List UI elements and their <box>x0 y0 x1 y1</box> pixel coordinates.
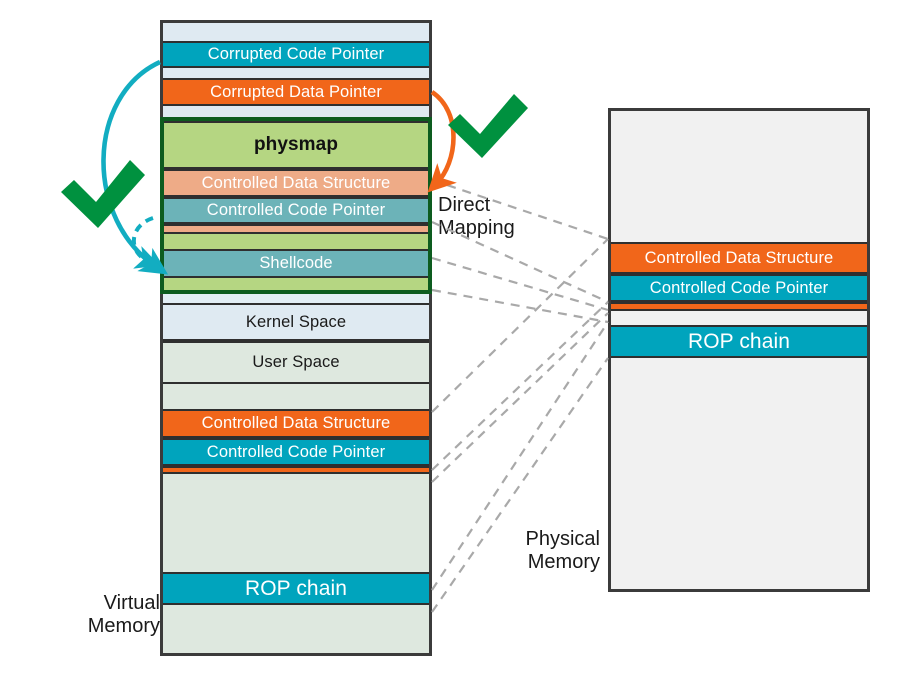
connector-line-5 <box>432 239 608 412</box>
user-gap-1 <box>163 384 429 410</box>
corrupted-code-pointer-label: Corrupted Code Pointer <box>208 46 384 63</box>
checkmark-right-icon <box>448 94 528 158</box>
physical-memory-label: Physical Memory <box>492 528 600 574</box>
teal-redirect-arrow <box>103 62 160 268</box>
corrupted-data-pointer: Corrupted Data Pointer <box>163 78 429 106</box>
user-gap-3 <box>163 605 429 653</box>
controlled-code-pointer-user-label: Controlled Code Pointer <box>207 444 385 461</box>
phys-rop-chain-label: ROP chain <box>688 331 790 352</box>
corrupted-data-pointer-label: Corrupted Data Pointer <box>210 84 382 101</box>
physmap: physmap <box>164 121 428 169</box>
physical-memory-column: Controlled Data StructureControlled Code… <box>608 108 870 592</box>
green-gap-1 <box>164 234 428 249</box>
controlled-code-pointer-user: Controlled Code Pointer <box>163 438 429 466</box>
checkmark-left-icon <box>61 160 145 228</box>
controlled-code-pointer: Controlled Code Pointer <box>164 197 428 224</box>
corrupted-code-pointer: Corrupted Code Pointer <box>163 41 429 69</box>
direct-mapping-label: Direct Mapping <box>438 194 558 240</box>
user-gap-2 <box>163 474 429 573</box>
virtual-memory-label: Virtual Memory <box>56 592 160 638</box>
phys-controlled-code-pointer-label: Controlled Code Pointer <box>650 280 828 297</box>
virtual-memory-column: Corrupted Code PointerCorrupted Data Poi… <box>160 20 432 656</box>
gap-1 <box>163 68 429 78</box>
thin-salmon <box>164 224 428 234</box>
kernel-space-label: Kernel Space <box>246 314 346 331</box>
controlled-data-structure-user: Controlled Data Structure <box>163 409 429 438</box>
teal-dashed-arrow <box>134 218 153 262</box>
phys-controlled-data-structure-label: Controlled Data Structure <box>645 250 834 267</box>
physmap-group-box: physmapControlled Data StructureControll… <box>160 117 432 294</box>
connector-line-4 <box>432 290 608 322</box>
green-gap-2 <box>164 278 428 290</box>
physmap-label: physmap <box>254 135 338 154</box>
diagram-canvas: Corrupted Code PointerCorrupted Data Poi… <box>0 0 909 686</box>
phys-controlled-data-structure: Controlled Data Structure <box>611 242 867 274</box>
shellcode-label: Shellcode <box>259 255 332 272</box>
connector-line-6 <box>432 302 608 470</box>
phys-rop-chain: ROP chain <box>611 325 867 358</box>
phys-blank-top <box>611 111 867 242</box>
phys-controlled-code-pointer: Controlled Code Pointer <box>611 274 867 302</box>
orange-redirect-arrow <box>432 92 454 184</box>
controlled-code-pointer-label: Controlled Code Pointer <box>207 202 385 219</box>
phys-gap <box>611 311 867 325</box>
shellcode: Shellcode <box>164 249 428 278</box>
thin-orange <box>163 466 429 474</box>
controlled-data-structure: Controlled Data Structure <box>164 169 428 198</box>
phys-blank-bottom <box>611 358 867 588</box>
rop-chain-label: ROP chain <box>245 578 347 599</box>
connector-line-3 <box>432 258 608 310</box>
user-space-label: User Space <box>252 354 339 371</box>
phys-thin-orange <box>611 302 867 311</box>
controlled-data-structure-user-label: Controlled Data Structure <box>202 415 391 432</box>
rop-chain: ROP chain <box>163 572 429 605</box>
kernel-space: Kernel Space <box>163 303 429 341</box>
user-space: User Space <box>163 341 429 383</box>
controlled-data-structure-label: Controlled Data Structure <box>202 175 391 192</box>
blank-top <box>163 23 429 41</box>
connector-line-7 <box>432 313 608 482</box>
